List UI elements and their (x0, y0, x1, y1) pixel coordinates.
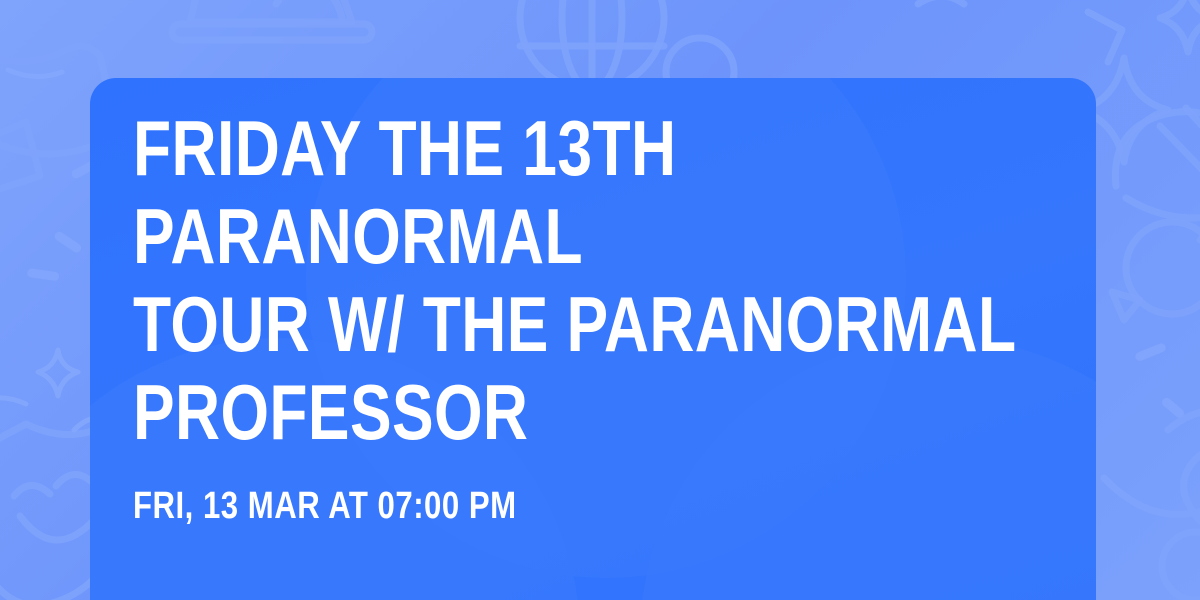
event-date-time: Fri, 13 Mar at 07:00 PM (133, 456, 871, 528)
event-banner: Friday the 13th Paranormal Tour w/ The P… (0, 0, 1200, 600)
sparkle-icon (38, 350, 78, 396)
sparkle-icon (1160, 0, 1200, 52)
globe-icon (520, 0, 664, 90)
trophy-icon (1115, 108, 1200, 218)
event-title: Friday the 13th Paranormal Tour w/ The P… (133, 104, 1077, 456)
event-card[interactable]: Friday the 13th Paranormal Tour w/ The P… (90, 78, 1096, 600)
award-icon (900, 0, 980, 4)
laptop-icon (172, 0, 372, 40)
card-content: Friday the 13th Paranormal Tour w/ The P… (133, 104, 1056, 528)
microphone-icon (1112, 214, 1200, 320)
confetti-icon (1134, 342, 1186, 420)
megaphone-icon (0, 122, 40, 198)
bracket-icon (1088, 12, 1122, 62)
cable-icon (1104, 411, 1200, 600)
